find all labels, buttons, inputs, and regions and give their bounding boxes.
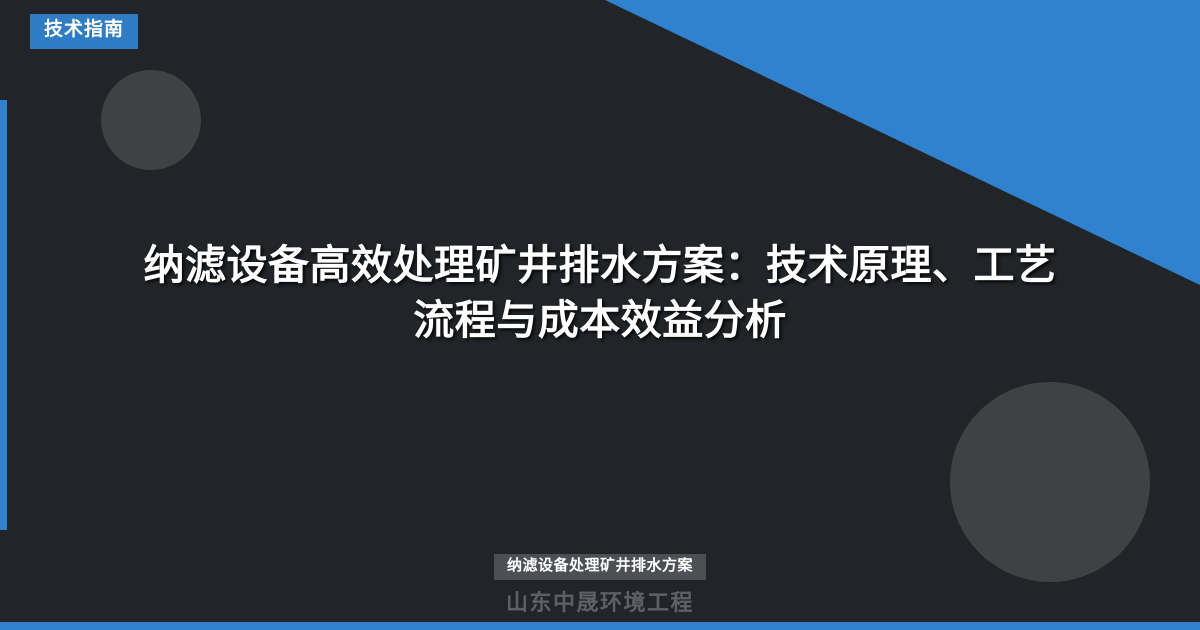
title-slide: 技术指南 纳滤设备高效处理矿井排水方案：技术原理、工艺 流程与成本效益分析 纳滤… xyxy=(0,0,1200,630)
category-badge: 技术指南 xyxy=(30,14,138,49)
caption-container: 纳滤设备处理矿井排水方案 xyxy=(0,554,1200,580)
bottom-accent-bar xyxy=(0,622,1200,630)
left-accent-strip xyxy=(0,100,7,530)
watermark-container: 山东中晟环境工程 xyxy=(0,590,1200,616)
caption-badge: 纳滤设备处理矿井排水方案 xyxy=(494,554,706,580)
watermark-label: 山东中晟环境工程 xyxy=(506,590,694,616)
page-title-line-2: 流程与成本效益分析 xyxy=(110,293,1090,348)
decorative-circle-bottom-right xyxy=(950,382,1150,582)
page-title-line-1: 纳滤设备高效处理矿井排水方案：技术原理、工艺 xyxy=(110,238,1090,293)
decorative-circle-top-left xyxy=(101,70,201,170)
page-title: 纳滤设备高效处理矿井排水方案：技术原理、工艺 流程与成本效益分析 xyxy=(110,238,1090,348)
